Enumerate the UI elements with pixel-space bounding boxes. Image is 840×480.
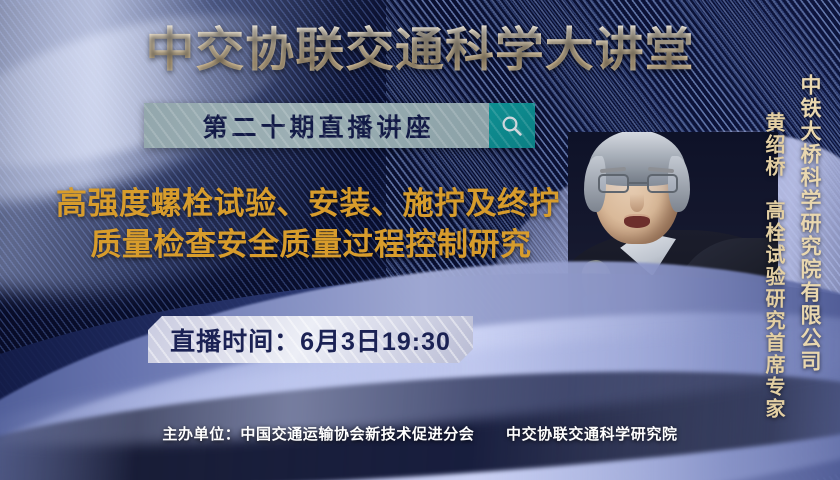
organizer-secondary: 中交协联交通科学研究院 [506, 426, 678, 443]
portrait-glasses [598, 174, 678, 194]
glasses-lens-right [647, 174, 678, 193]
broadcast-time-text: 直播时间：6月3日19:30 [170, 322, 451, 358]
broadcast-time-badge: 直播时间：6月3日19:30 [148, 316, 473, 363]
poster-canvas: 中交协联交通科学大讲堂 第二十期直播讲座 高强度螺栓试验、安装、施拧及终拧 质量… [0, 0, 840, 480]
session-label: 第二十期直播讲座 [144, 103, 489, 148]
speaker-organization: 中铁大桥科学研究院有限公司 [794, 74, 824, 373]
page-title: 中交协联交通科学大讲堂 [0, 22, 840, 80]
portrait-nose [630, 194, 644, 212]
organizer-footer: 主办单位：中国交通运输协会新技术促进分会 中交协联交通科学研究院 [0, 423, 840, 444]
speaker-name-role: 黄绍桥 高栓试验研究首席专家 [759, 112, 788, 420]
lecture-title-line-2: 质量检查安全质量过程控制研究 [8, 225, 608, 266]
search-button[interactable] [489, 103, 535, 148]
lecture-title-line-1: 高强度螺栓试验、安装、施拧及终拧 [8, 184, 608, 225]
session-bar: 第二十期直播讲座 [144, 103, 535, 148]
search-icon [500, 114, 524, 138]
organizer-primary: 主办单位：中国交通运输协会新技术促进分会 [162, 426, 474, 443]
portrait-mouth [624, 216, 650, 228]
glasses-bridge [629, 182, 647, 184]
lecture-title: 高强度螺栓试验、安装、施拧及终拧 质量检查安全质量过程控制研究 [8, 184, 608, 266]
